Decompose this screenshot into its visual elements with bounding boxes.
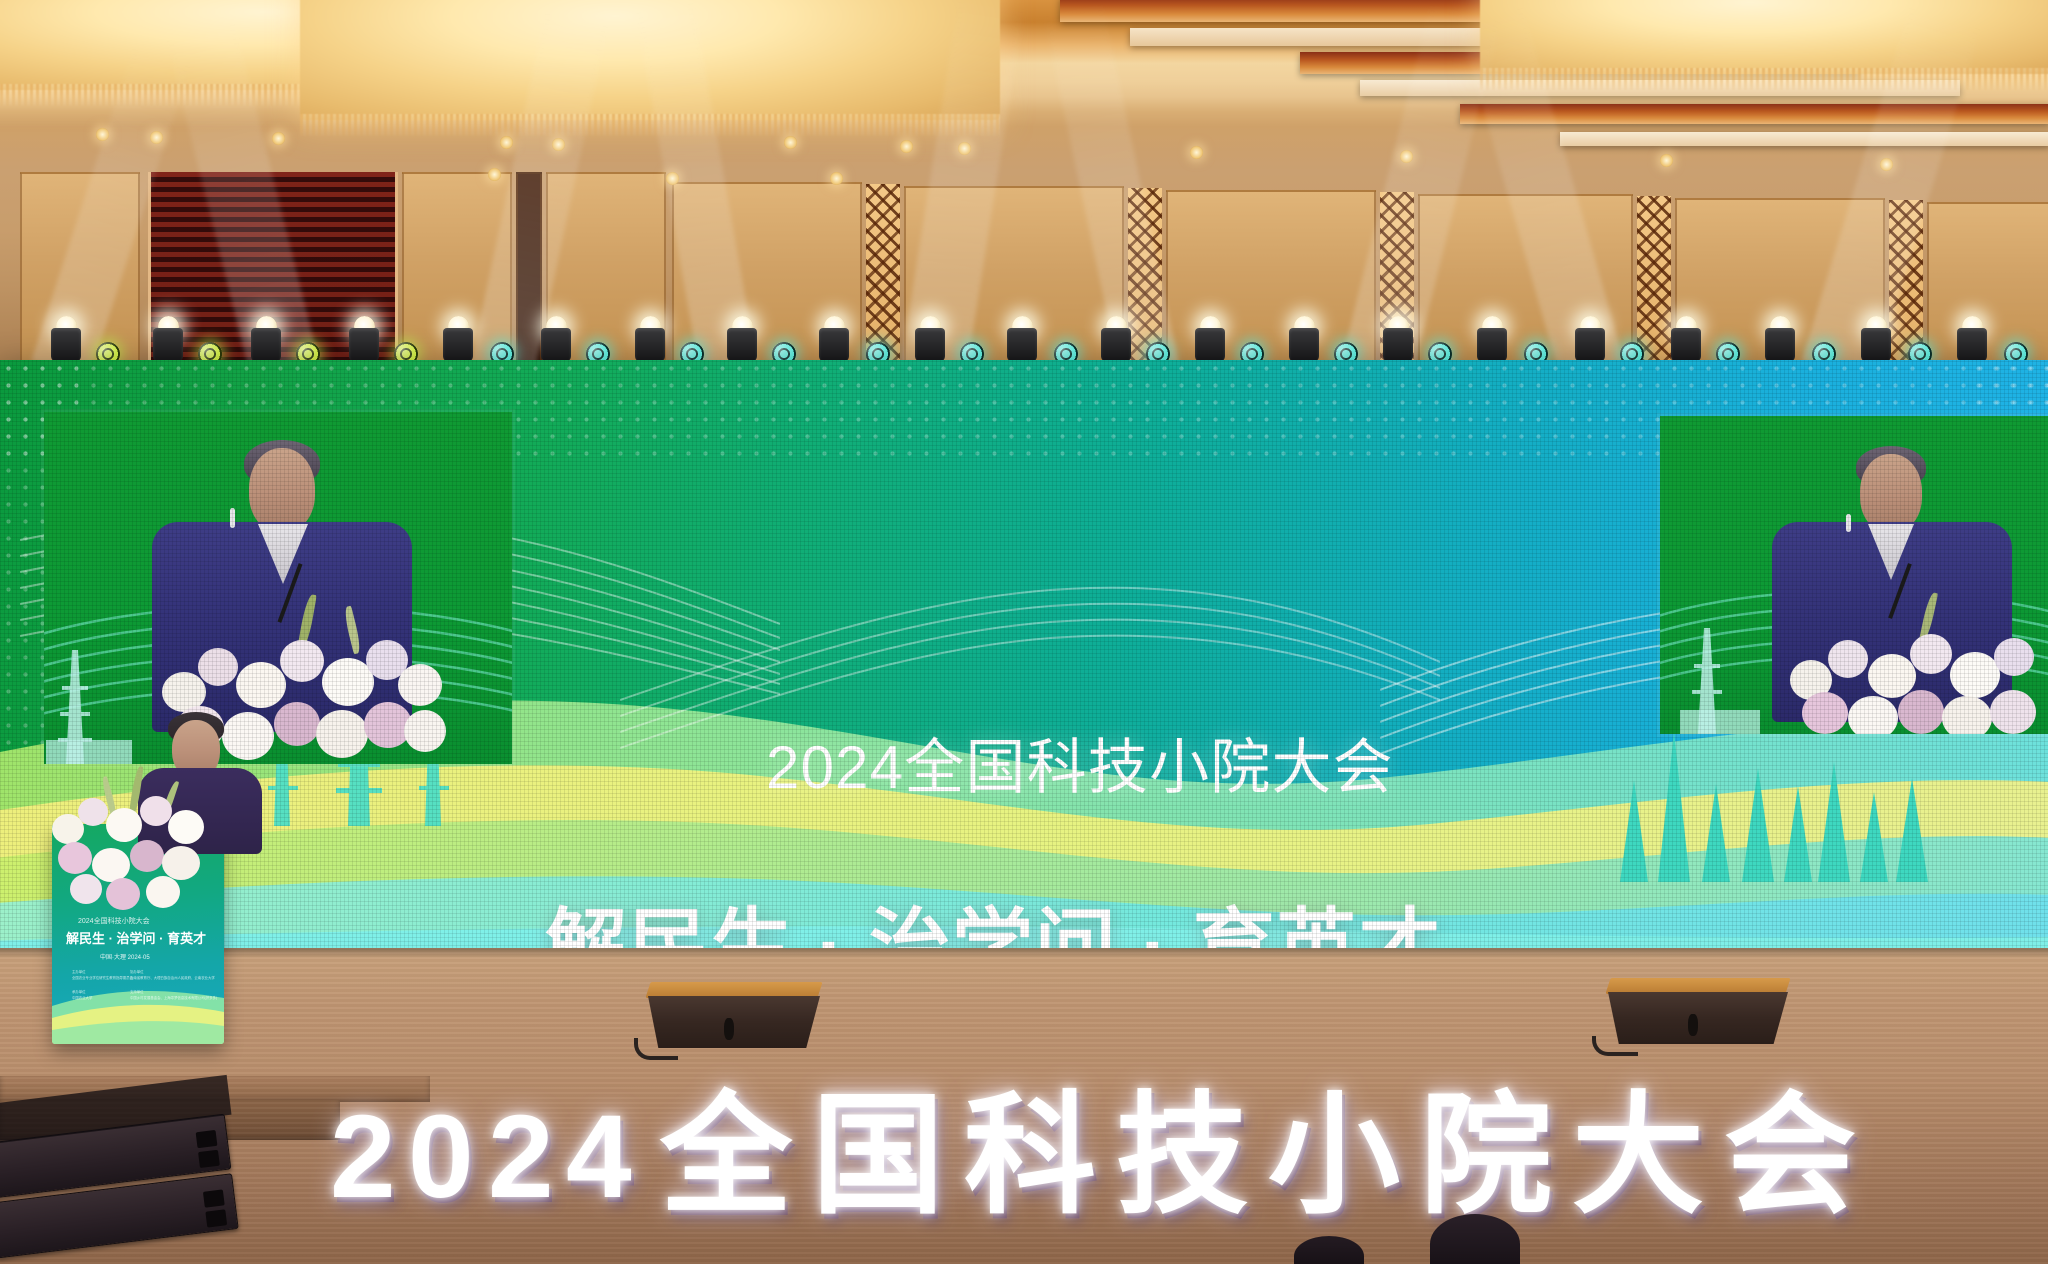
bouquet-flower [168, 810, 204, 844]
moving-head-light [1954, 314, 1990, 364]
monitor-top [645, 982, 822, 998]
podium-credit-a: 主办单位 [72, 970, 86, 976]
stage-front-edge-shadow [0, 948, 2048, 958]
monitor-port [724, 1018, 734, 1040]
moving-head-light [1004, 314, 1040, 364]
right-speaker-video-panel [1660, 416, 2048, 734]
bouquet-flower [162, 846, 200, 880]
lamp-body [1765, 328, 1795, 362]
led-event-title: 2024全国科技小院大会 [766, 719, 1394, 806]
lamp-body [635, 328, 665, 362]
moving-head-light [1192, 314, 1228, 364]
microphone-icon [1846, 514, 1851, 532]
downlight [958, 142, 971, 155]
signage-glyph: 全 [660, 1090, 792, 1222]
lamp-body [251, 328, 281, 362]
ceiling-light-fixture-mid [300, 0, 1000, 120]
speaker-head [249, 448, 315, 532]
led-event-subtitle: 解民生 · 治学问 · 育英才 [545, 880, 1441, 950]
speaker-head [1860, 454, 1922, 532]
signage-glyph: 4 [566, 1098, 632, 1216]
bouquet-flower [92, 848, 130, 882]
bouquet-flower [146, 876, 180, 908]
podium-date: 中国·大理 2024·05 [100, 952, 150, 961]
bouquet-leaf [342, 606, 362, 655]
bouquet-flower [130, 840, 164, 872]
signage-glyph: 国 [812, 1090, 944, 1222]
bouquet-flower [1802, 692, 1848, 734]
signage-glyph: 科 [964, 1090, 1096, 1222]
bouquet-flower [1994, 638, 2034, 676]
lamp-body [541, 328, 571, 362]
podium-credit-d: 支持单位 [130, 990, 144, 996]
downlight [666, 172, 679, 185]
downlight [272, 132, 285, 145]
moving-head-light [440, 314, 476, 364]
fixture-fringe [1480, 68, 2048, 90]
bouquet-flower [1868, 654, 1916, 698]
moving-head-light [346, 314, 382, 364]
lamp-body [819, 328, 849, 362]
podium-hill-graphic [52, 974, 224, 1044]
podium-credit-b-val: 云南省教育厅、大理白族自治州人民政府、云南农业大学 [130, 976, 215, 982]
lamp-body [1195, 328, 1225, 362]
bouquet-flower [1990, 690, 2036, 734]
lamp-body [1289, 328, 1319, 362]
lamp-body [1861, 328, 1891, 362]
monitor-port [1688, 1014, 1698, 1036]
lamp-body [1477, 328, 1507, 362]
led-backdrop-screen: 2024全国科技小院大会 解民生 · 治学问 · 育英才 中国·大理 2024·… [0, 360, 2048, 950]
ceiling-panel-e [1460, 104, 2048, 124]
lamp-body [153, 328, 183, 362]
downlight [1400, 150, 1413, 163]
moving-head-light [1762, 314, 1798, 364]
moving-head-light [248, 314, 284, 364]
downlight [96, 128, 109, 141]
monitor-cable [1592, 1036, 1638, 1056]
pine-trees-icon [1612, 732, 1942, 882]
bouquet-flower [1848, 696, 1898, 734]
signage-glyph: 小 [1268, 1090, 1400, 1222]
bouquet-flower [236, 662, 286, 708]
signage-glyph: 2 [488, 1098, 554, 1216]
bouquet-flower [78, 798, 108, 826]
bouquet-flower [70, 874, 102, 904]
signage-glyph: 会 [1724, 1090, 1856, 1222]
bouquet-flower [316, 710, 368, 758]
lamp-body [1957, 328, 1987, 362]
lamp-body [349, 328, 379, 362]
bouquet-flower [404, 710, 446, 752]
bouquet-flower [1828, 640, 1868, 678]
downlight [830, 172, 843, 185]
downlight [150, 131, 163, 144]
downlight [900, 140, 913, 153]
bouquet-flower [1950, 652, 2000, 698]
microphone-icon [230, 508, 235, 528]
stage-front-3d-signage: 2 0 2 4 全 国 科 技 小 院 大 会 [330, 1088, 2048, 1248]
line-array-horn [205, 1209, 227, 1227]
moving-head-light [1858, 314, 1894, 364]
bouquet-flower [1898, 690, 1944, 734]
line-array-horn [203, 1189, 225, 1207]
lamp-body [1575, 328, 1605, 362]
signage-glyph: 技 [1116, 1090, 1248, 1222]
stage-photo: 2024全国科技小院大会 解民生 · 治学问 · 育英才 中国·大理 2024·… [0, 0, 2048, 1264]
monitor-cable [634, 1038, 678, 1060]
moving-head-light [724, 314, 760, 364]
signage-glyph: 0 [408, 1098, 474, 1216]
stage-monitor-right [1608, 978, 1788, 1060]
bouquet-flower [398, 664, 442, 706]
podium-credit-b: 协办单位 [130, 970, 144, 976]
podium-credit-c-val: 中国农业大学 [72, 996, 92, 1002]
downlight [552, 138, 565, 151]
signage-glyph: 院 [1420, 1090, 1552, 1222]
left-speaker-video-panel [44, 412, 512, 764]
moving-head-light [912, 314, 948, 364]
downlight [1190, 146, 1203, 159]
monitor-top [1605, 978, 1790, 994]
moving-head-light [816, 314, 852, 364]
moving-head-light [1098, 314, 1134, 364]
bouquet-flower [106, 808, 142, 842]
downlight [784, 136, 797, 149]
video-bouquet [1784, 598, 2048, 734]
downlight [1660, 154, 1673, 167]
moving-head-light [1668, 314, 1704, 364]
moving-head-light [538, 314, 574, 364]
lamp-body [727, 328, 757, 362]
bouquet-flower [198, 648, 238, 686]
signage-glyph: 大 [1572, 1090, 1704, 1222]
moving-head-light [1380, 314, 1416, 364]
moving-head-light [1474, 314, 1510, 364]
stage-monitor-left [648, 982, 820, 1062]
lamp-body [1671, 328, 1701, 362]
bouquet-flower [140, 796, 172, 826]
downlight [488, 168, 501, 181]
moving-head-light [632, 314, 668, 364]
ceiling-light-fixture-right [1480, 0, 2048, 74]
bouquet-flower [280, 640, 324, 682]
lamp-body [443, 328, 473, 362]
downlight [1880, 158, 1893, 171]
podium-credit-a-val: 全国农业专业学位研究生教育指导委员会 [72, 976, 133, 982]
line-array-horn [198, 1150, 220, 1168]
line-array-horn [196, 1130, 218, 1148]
podium-credit-c: 承办单位 [72, 990, 86, 996]
lamp-body [1383, 328, 1413, 362]
ceiling-panel-f [1560, 132, 2048, 146]
bouquet-flower [1910, 634, 1952, 674]
bouquet-flower [58, 842, 92, 874]
lamp-body [915, 328, 945, 362]
podium-bouquet [48, 770, 228, 920]
moving-head-light [1572, 314, 1608, 364]
moving-head-light [1286, 314, 1322, 364]
downlight [500, 136, 513, 149]
bouquet-flower [106, 878, 140, 910]
podium-credit-d-val: 中国乡村发展基金会、上海寻梦信息技术有限公司(拼多多) [130, 996, 217, 1002]
moving-head-light [150, 314, 186, 364]
fixture-fringe [300, 114, 1000, 136]
lamp-body [1101, 328, 1131, 362]
lamp-body [1007, 328, 1037, 362]
signage-glyph: 2 [330, 1098, 396, 1216]
bouquet-flower [274, 702, 320, 746]
podium-subtitle: 解民生 · 治学问 · 育英才 [66, 928, 206, 947]
lamp-body [51, 328, 81, 362]
bouquet-flower [1942, 696, 1992, 734]
moving-head-light [48, 314, 84, 364]
